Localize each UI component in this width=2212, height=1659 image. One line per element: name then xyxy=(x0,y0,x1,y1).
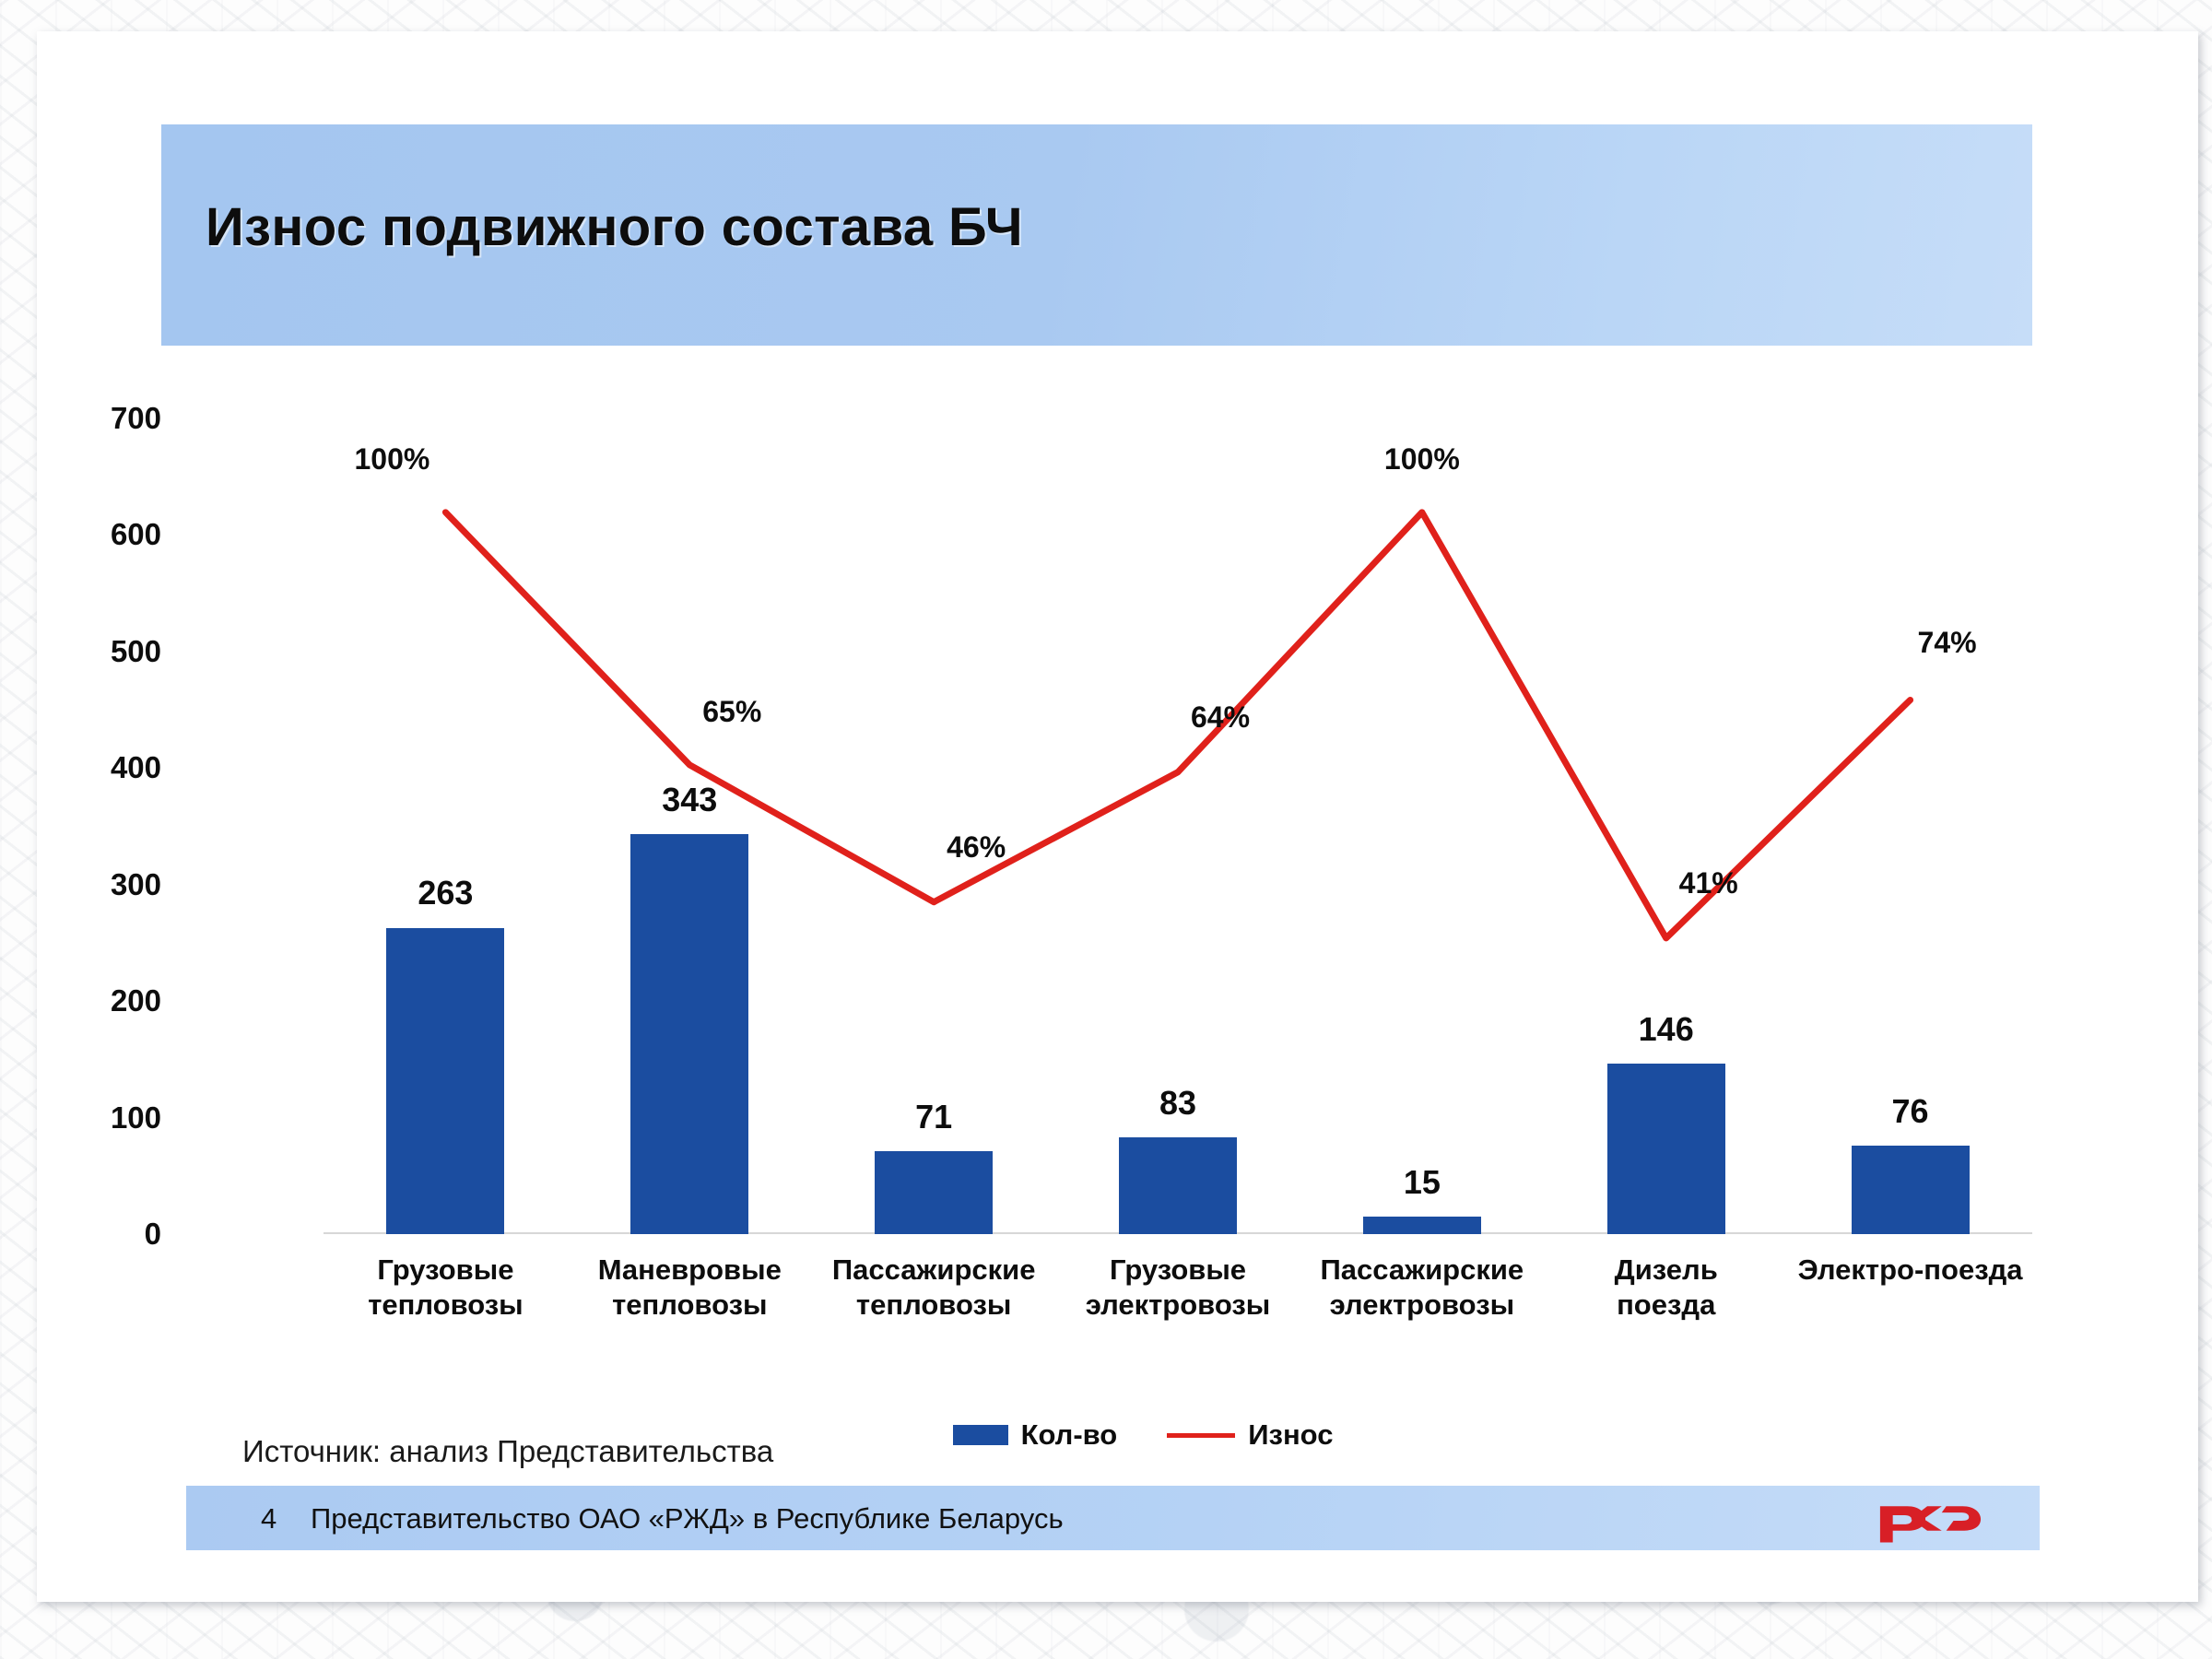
percent-label-2: 46% xyxy=(947,830,1006,865)
legend-label-kolvo: Кол-во xyxy=(1021,1418,1118,1452)
y-axis-tick-700: 700 xyxy=(51,401,161,436)
percent-label-1: 65% xyxy=(702,695,761,729)
percent-label-4: 100% xyxy=(1384,442,1460,477)
source-note: Источник: анализ Представительства xyxy=(242,1434,773,1469)
y-axis-tick-300: 300 xyxy=(51,867,161,902)
y-axis-tick-100: 100 xyxy=(51,1100,161,1135)
y-axis-tick-200: 200 xyxy=(51,983,161,1018)
legend-item-kolvo: Кол-во xyxy=(953,1418,1118,1452)
category-label-5: Дизельпоезда xyxy=(1525,1253,1806,1323)
percent-label-5: 41% xyxy=(1679,866,1738,900)
category-label-0: Грузовыетепловозы xyxy=(305,1253,586,1323)
legend-line-swatch-icon xyxy=(1167,1433,1235,1438)
y-axis-tick-0: 0 xyxy=(51,1217,161,1252)
footer-band: 4 Представительство ОАО «РЖД» в Республи… xyxy=(186,1486,2040,1550)
percent-label-3: 64% xyxy=(1191,700,1250,735)
legend-bar-swatch-icon xyxy=(953,1425,1008,1445)
category-label-1: Маневровыетепловозы xyxy=(549,1253,830,1323)
percent-label-0: 100% xyxy=(355,442,430,477)
износ-line-series xyxy=(324,418,2032,1234)
y-axis-tick-600: 600 xyxy=(51,517,161,552)
rzd-logo xyxy=(1875,1493,1983,1543)
footer-organization-text: Представительство ОАО «РЖД» в Республике… xyxy=(311,1502,1064,1535)
slide-sheet: Износ подвижного состава БЧ 010020030040… xyxy=(37,31,2198,1602)
y-axis-tick-500: 500 xyxy=(51,634,161,669)
chart-canvas: 0100200300400500600700 26334371831514676… xyxy=(161,418,2032,1377)
category-label-4: Пассажирскиеэлектровозы xyxy=(1281,1253,1562,1323)
percent-label-6: 74% xyxy=(1918,626,1977,660)
legend-label-iznos: Износ xyxy=(1248,1418,1333,1452)
title-band: Износ подвижного состава БЧ xyxy=(161,124,2032,346)
page-number: 4 xyxy=(261,1502,276,1535)
category-label-2: Пассажирскиетепловозы xyxy=(794,1253,1075,1323)
page-title: Износ подвижного состава БЧ xyxy=(206,196,1023,258)
plot-area: 26334371831514676 100%65%46%64%100%41%74… xyxy=(324,418,2032,1234)
y-axis-tick-400: 400 xyxy=(51,750,161,785)
category-label-3: Грузовыеэлектровозы xyxy=(1038,1253,1319,1323)
category-label-6: Электро-поезда xyxy=(1770,1253,2051,1288)
legend-item-iznos: Износ xyxy=(1167,1418,1333,1452)
